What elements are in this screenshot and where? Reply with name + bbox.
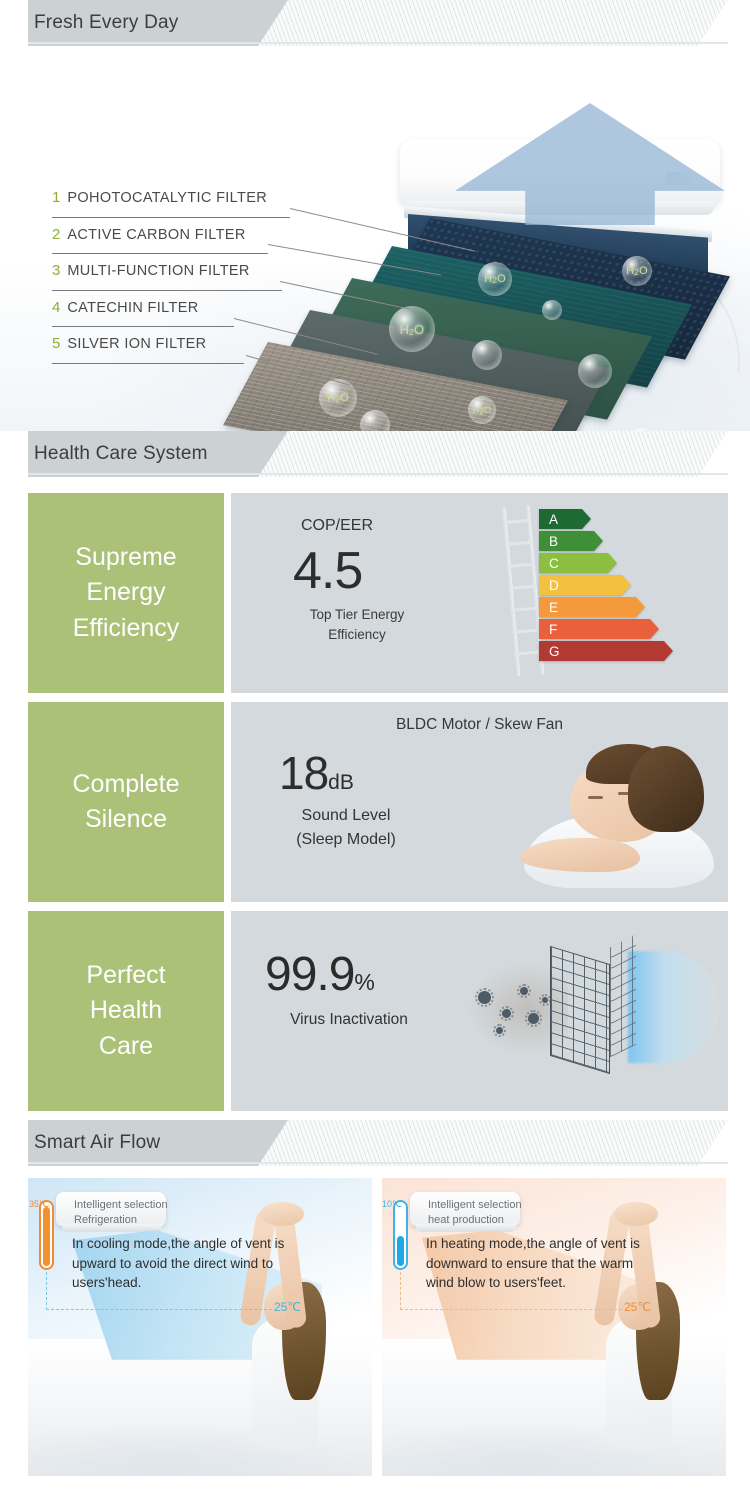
energy-grade-b: B	[539, 531, 603, 551]
cop-eer-value: 4.5	[293, 541, 362, 601]
cop-eer-subtitle: Top Tier EnergyEfficiency	[273, 605, 441, 644]
energy-grade-e: E	[539, 597, 645, 617]
filter-legend-item: 5SILVER ION FILTER	[52, 335, 267, 372]
dashed-guide-vertical	[46, 1272, 47, 1310]
motor-heading: BLDC Motor / Skew Fan	[231, 716, 728, 734]
feature-card-content: 99.9% Virus Inactivation	[231, 911, 728, 1111]
filter-legend-item: 4CATECHIN FILTER	[52, 299, 267, 336]
feature-card-silence: CompleteSilence BLDC Motor / Skew Fan 18…	[28, 702, 728, 902]
feature-card-content: BLDC Motor / Skew Fan 18dB Sound Level(S…	[231, 702, 728, 902]
filter-mesh-side	[610, 935, 636, 1058]
feature-title-text: CompleteSilence	[73, 767, 180, 838]
filter-legend-item: 3MULTI-FUNCTION FILTER	[52, 262, 267, 299]
energy-grade-label: D	[549, 578, 559, 593]
h2o-bubble: H2O	[478, 262, 512, 296]
section-banner-airflow: Smart Air Flow	[0, 1120, 750, 1166]
temp-top-label: 35℃	[29, 1199, 49, 1210]
h2o-bubble: H2O	[319, 379, 357, 417]
virus-inactivation-subtitle: Virus Inactivation	[249, 1011, 449, 1029]
germ-icon	[496, 1027, 503, 1034]
filter-underline	[52, 217, 290, 218]
sleeping-child-image	[524, 738, 714, 888]
thermometer-icon: 35℃	[39, 1200, 54, 1270]
energy-grade-label: C	[549, 556, 559, 571]
filter-underline	[52, 290, 282, 291]
filter-label: SILVER ION FILTER	[67, 336, 206, 352]
germ-icon	[478, 991, 491, 1004]
energy-grade-label: E	[549, 600, 558, 615]
filter-number: 5	[52, 335, 60, 352]
energy-grade-label: F	[549, 622, 557, 637]
feature-card-title: PerfectHealthCare	[28, 911, 224, 1111]
heating-mode-label: Intelligent selectionheat production	[428, 1198, 522, 1228]
filter-mesh-front	[550, 946, 610, 1074]
energy-grade-label: A	[549, 512, 558, 527]
energy-grade-c: C	[539, 553, 617, 573]
feature-card-title: CompleteSilence	[28, 702, 224, 902]
feature-card-title: SupremeEnergyEfficiency	[28, 493, 224, 693]
feature-card-health: PerfectHealthCare 99.9% Virus Inactivati…	[28, 911, 728, 1111]
energy-grade-d: D	[539, 575, 631, 595]
feature-title-text: SupremeEnergyEfficiency	[73, 540, 180, 647]
child-hair	[628, 746, 704, 832]
banner-hatch-pattern	[258, 1120, 728, 1166]
filter-number: 2	[52, 226, 60, 243]
sound-level-unit: dB	[328, 771, 354, 794]
health-care-cards: SupremeEnergyEfficiency COP/EER 4.5 Top …	[0, 477, 750, 1111]
virus-value-unit: %	[354, 969, 373, 995]
filter-number: 1	[52, 189, 60, 206]
filter-underline	[52, 363, 244, 364]
temp-bottom-label: 25℃	[624, 1300, 651, 1314]
filter-label: CATECHIN FILTER	[67, 300, 198, 316]
filter-number: 3	[52, 262, 60, 279]
heating-description: In heating mode,the angle of vent is dow…	[426, 1234, 646, 1293]
sound-level-subtitle: Sound Level(Sleep Model)	[251, 804, 441, 852]
sound-level-value: 18dB	[279, 746, 354, 800]
virus-filtration-diagram	[468, 935, 718, 1085]
germ-icon	[542, 997, 548, 1003]
germ-icon	[528, 1013, 539, 1024]
section-title-health: Health Care System	[34, 431, 208, 477]
energy-grade-a: A	[539, 509, 591, 529]
filter-underline	[52, 253, 268, 254]
energy-grade-f: F	[539, 619, 659, 639]
h2o-bubble	[578, 354, 612, 388]
temp-top-label: 10℃	[382, 1199, 402, 1210]
child-arm	[520, 838, 640, 872]
filter-underline	[52, 326, 234, 327]
filter-number: 4	[52, 299, 60, 316]
energy-grade-label: G	[549, 644, 560, 659]
h2o-bubble: H2O	[468, 396, 496, 424]
feature-card-content: COP/EER 4.5 Top Tier EnergyEfficiency AB…	[231, 493, 728, 693]
filter-legend-item: 1POHOTOCATALYTIC FILTER	[52, 189, 267, 226]
section-title-airflow: Smart Air Flow	[34, 1120, 160, 1166]
germ-icon	[520, 987, 528, 995]
dashed-guide-horizontal	[400, 1309, 622, 1310]
filter-label: ACTIVE CARBON FILTER	[67, 227, 245, 243]
section-banner-health: Health Care System	[0, 431, 750, 477]
cooling-description: In cooling mode,the angle of vent is upw…	[72, 1234, 292, 1293]
airflow-card-cooling: 35℃ 25℃ Intelligent selectionRefrigerati…	[28, 1178, 372, 1476]
section-banner-fresh: Fresh Every Day	[0, 0, 750, 46]
banner-hatch-pattern	[258, 0, 728, 46]
virus-inactivation-value: 99.9%	[265, 947, 374, 1002]
purified-air	[628, 951, 720, 1063]
feature-card-energy: SupremeEnergyEfficiency COP/EER 4.5 Top …	[28, 493, 728, 693]
dashed-guide-horizontal	[46, 1309, 272, 1310]
cooling-mode-label: Intelligent selectionRefrigeration	[74, 1198, 168, 1228]
h2o-bubble: H2O	[389, 306, 435, 352]
feature-title-text: PerfectHealthCare	[86, 958, 165, 1065]
filter-legend-list: 1POHOTOCATALYTIC FILTER 2ACTIVE CARBON F…	[52, 189, 267, 372]
filter-label: POHOTOCATALYTIC FILTER	[67, 190, 267, 206]
h2o-bubble	[542, 300, 562, 320]
h2o-bubble: H2O	[622, 256, 652, 286]
hero-filter-illustration: H2O H2O H2O H2O H2O H2O 1POHOTOCATALYTIC…	[0, 46, 750, 431]
sound-level-number: 18	[279, 747, 328, 799]
energy-grade-label: B	[549, 534, 558, 549]
section-title-fresh: Fresh Every Day	[34, 0, 178, 46]
germ-icon	[502, 1009, 511, 1018]
banner-hatch-pattern	[258, 431, 728, 477]
thermometer-icon: 10℃	[393, 1200, 408, 1270]
virus-value-number: 99.9	[265, 948, 354, 1001]
temp-bottom-label: 25℃	[274, 1300, 301, 1314]
energy-grade-g: G	[539, 641, 673, 661]
airflow-card-heating: 10℃ 25℃ Intelligent selectionheat produc…	[382, 1178, 726, 1476]
h2o-bubble	[472, 340, 502, 370]
cop-eer-heading: COP/EER	[301, 517, 373, 535]
smart-airflow-panels: 35℃ 25℃ Intelligent selectionRefrigerati…	[0, 1166, 750, 1476]
dashed-guide-vertical	[400, 1272, 401, 1310]
filter-label: MULTI-FUNCTION FILTER	[67, 263, 249, 279]
filter-legend-item: 2ACTIVE CARBON FILTER	[52, 226, 267, 263]
